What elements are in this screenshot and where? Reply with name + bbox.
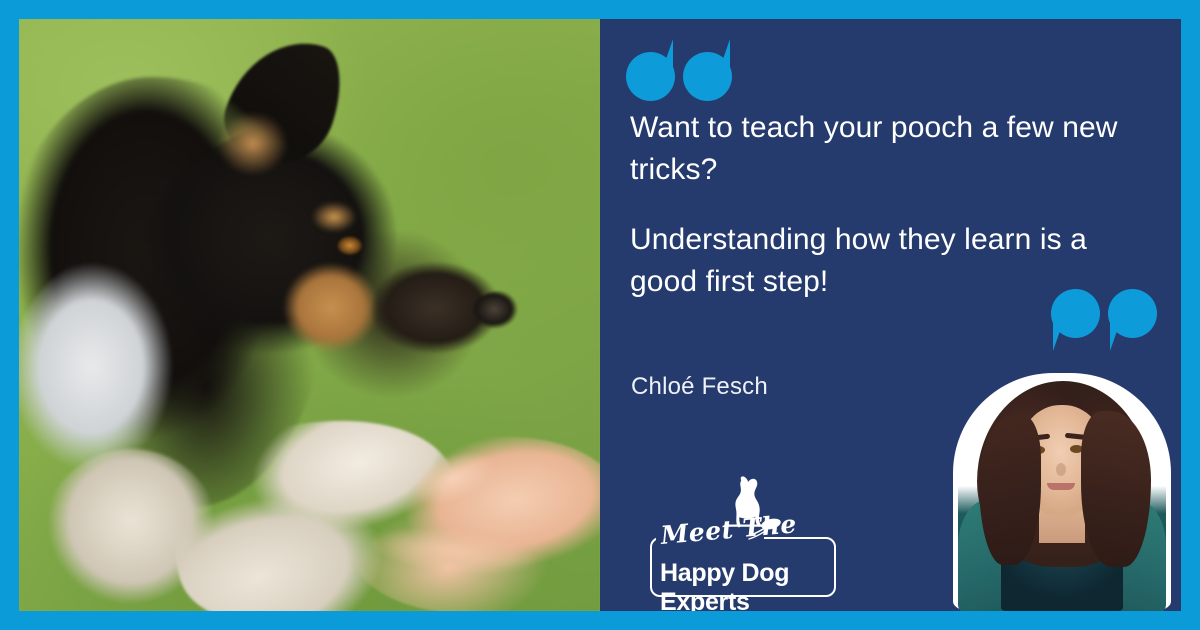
author-portrait [953,371,1171,611]
puppy-brow-tan-patch [305,197,363,237]
puppy-ear-tan-patch [205,105,297,189]
puppy-eye [335,235,367,259]
portrait-hair-strand-right [1081,411,1151,567]
quote-line-1: Want to teach your pooch a few new trick… [630,107,1140,191]
portrait-nose [1056,463,1066,476]
open-quote-icon [626,39,732,101]
portrait-hair-strand-left [979,415,1041,565]
portrait-mouth [1047,483,1075,490]
open-quote-mark-1 [626,39,675,101]
dog-photo [19,19,600,611]
close-quote-mark-1 [1108,289,1157,351]
brand-logo[interactable]: Meet The Happy Dog Experts [650,475,850,600]
quote-panel: Want to teach your pooch a few new trick… [600,19,1181,611]
close-quote-icon [1051,289,1157,351]
open-quote-mark-2 [683,39,732,101]
logo-main-text: Happy Dog Experts [660,559,850,611]
close-quote-mark-2 [1051,289,1100,351]
quote-author: Chloé Fesch [631,373,768,401]
quote-card: Want to teach your pooch a few new trick… [0,0,1200,630]
